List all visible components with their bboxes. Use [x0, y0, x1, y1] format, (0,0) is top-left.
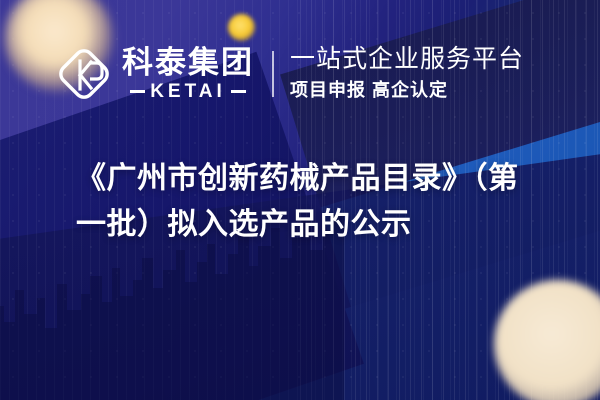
slogan-block: 一站式企业服务平台 项目申报 高企认定 [290, 45, 524, 102]
dash-right-icon [231, 90, 246, 93]
vertical-divider [272, 51, 274, 97]
brand-header: 科泰集团 KETAI 一站式企业服务平台 项目申报 高企认定 [0, 36, 600, 112]
dash-left-icon [130, 90, 145, 93]
brand-wordmark: 科泰集团 KETAI [122, 47, 254, 101]
slogan-main: 一站式企业服务平台 [290, 45, 524, 74]
slogan-sub: 项目申报 高企认定 [290, 78, 524, 102]
cream-circle-orb-icon [494, 280, 600, 400]
brand-name-cn: 科泰集团 [122, 47, 254, 80]
page-title: 《广州市创新药械产品目录》（第一批）拟入选产品的公示 [76, 156, 546, 247]
ketai-diamond-kp-monogram-icon [56, 46, 112, 102]
announcement-banner: 科泰集团 KETAI 一站式企业服务平台 项目申报 高企认定 《广州市创新药械产… [0, 0, 600, 400]
brand-name-en-row: KETAI [130, 82, 246, 101]
brand-name-en: KETAI [150, 82, 226, 101]
